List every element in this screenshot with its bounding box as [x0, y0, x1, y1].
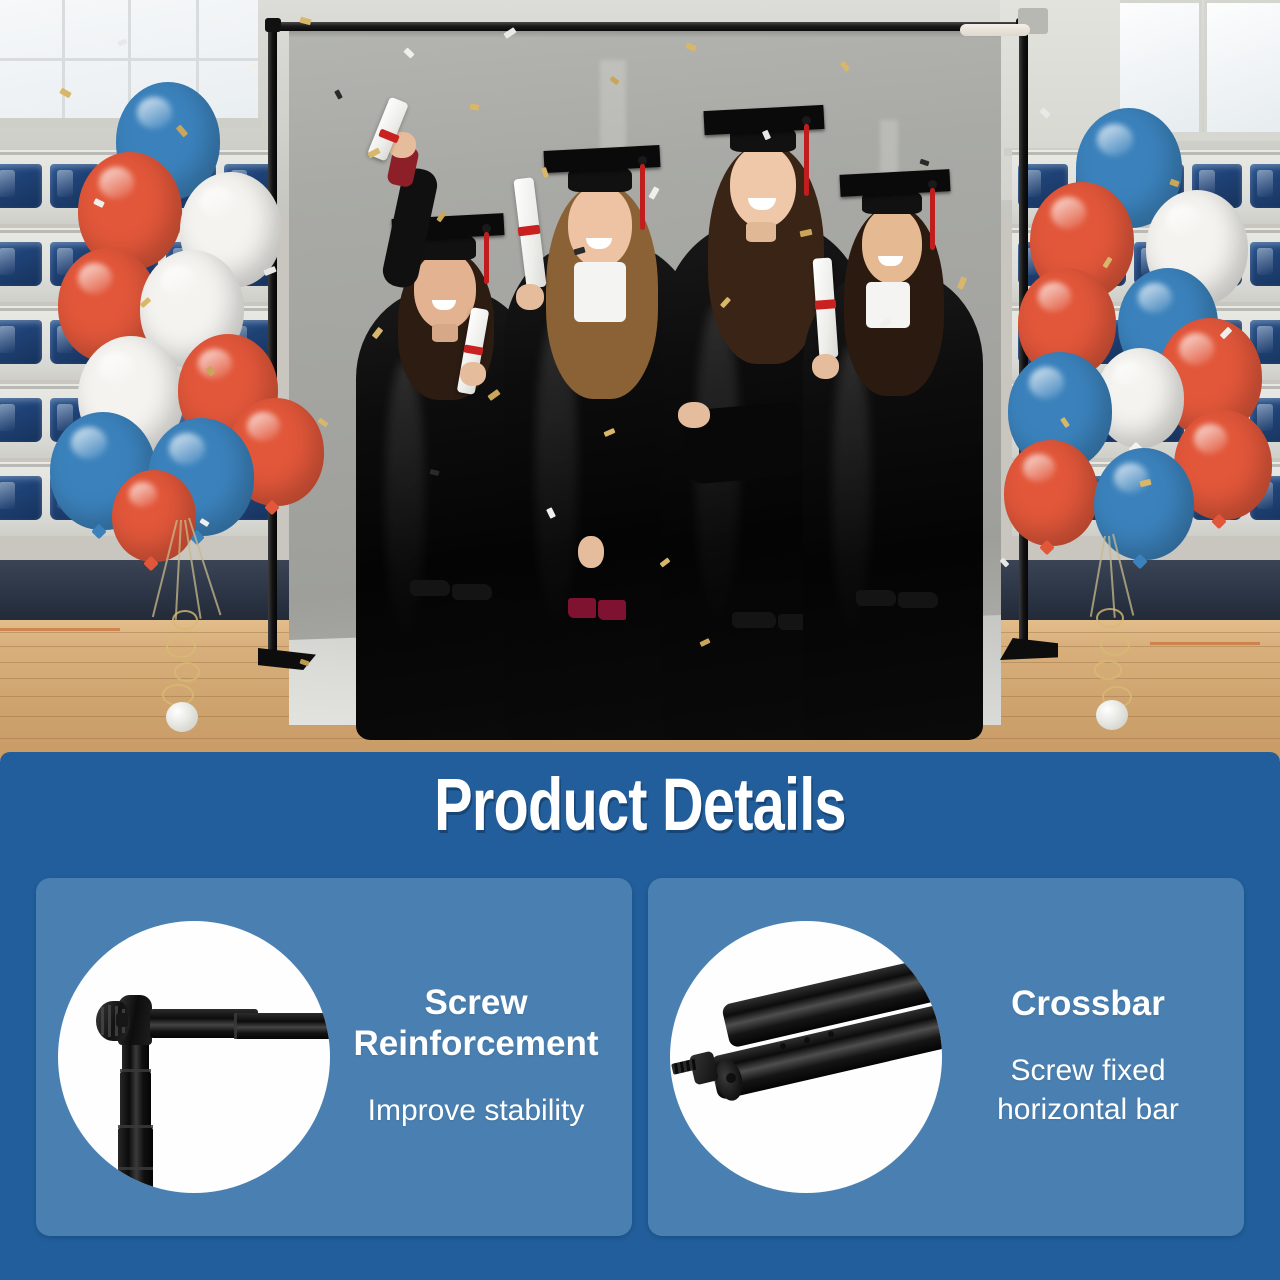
page-title: Product Details [141, 762, 1139, 847]
feature-cards: Screw Reinforcement Improve stability [36, 878, 1244, 1236]
balloon-cluster-left [0, 0, 300, 760]
card-subtitle-crossbar: Screw fixed horizontal bar [946, 1051, 1230, 1130]
crossbar-icon [670, 921, 942, 1193]
graduate-4 [800, 140, 986, 740]
product-details-panel: Product Details [0, 752, 1280, 1280]
card-title-screw: Screw Reinforcement [334, 983, 618, 1065]
card-media-crossbar [670, 921, 942, 1193]
card-media-screw [58, 921, 330, 1193]
card-subtitle-screw: Improve stability [334, 1091, 618, 1131]
backdrop-stand-crossbar [268, 22, 1028, 31]
screw-reinforcement-icon [58, 921, 330, 1193]
balloon-cluster-right [1000, 0, 1280, 760]
feature-card-screw-reinforcement[interactable]: Screw Reinforcement Improve stability [36, 878, 632, 1236]
feature-card-crossbar[interactable]: Crossbar Screw fixed horizontal bar [648, 878, 1244, 1236]
hero-photo [0, 0, 1280, 760]
product-details-infographic: Product Details [0, 0, 1280, 1280]
card-text-crossbar: Crossbar Screw fixed horizontal bar [942, 984, 1244, 1130]
card-text-screw: Screw Reinforcement Improve stability [330, 983, 632, 1130]
card-title-crossbar: Crossbar [946, 984, 1230, 1025]
graduates-group [330, 130, 950, 740]
